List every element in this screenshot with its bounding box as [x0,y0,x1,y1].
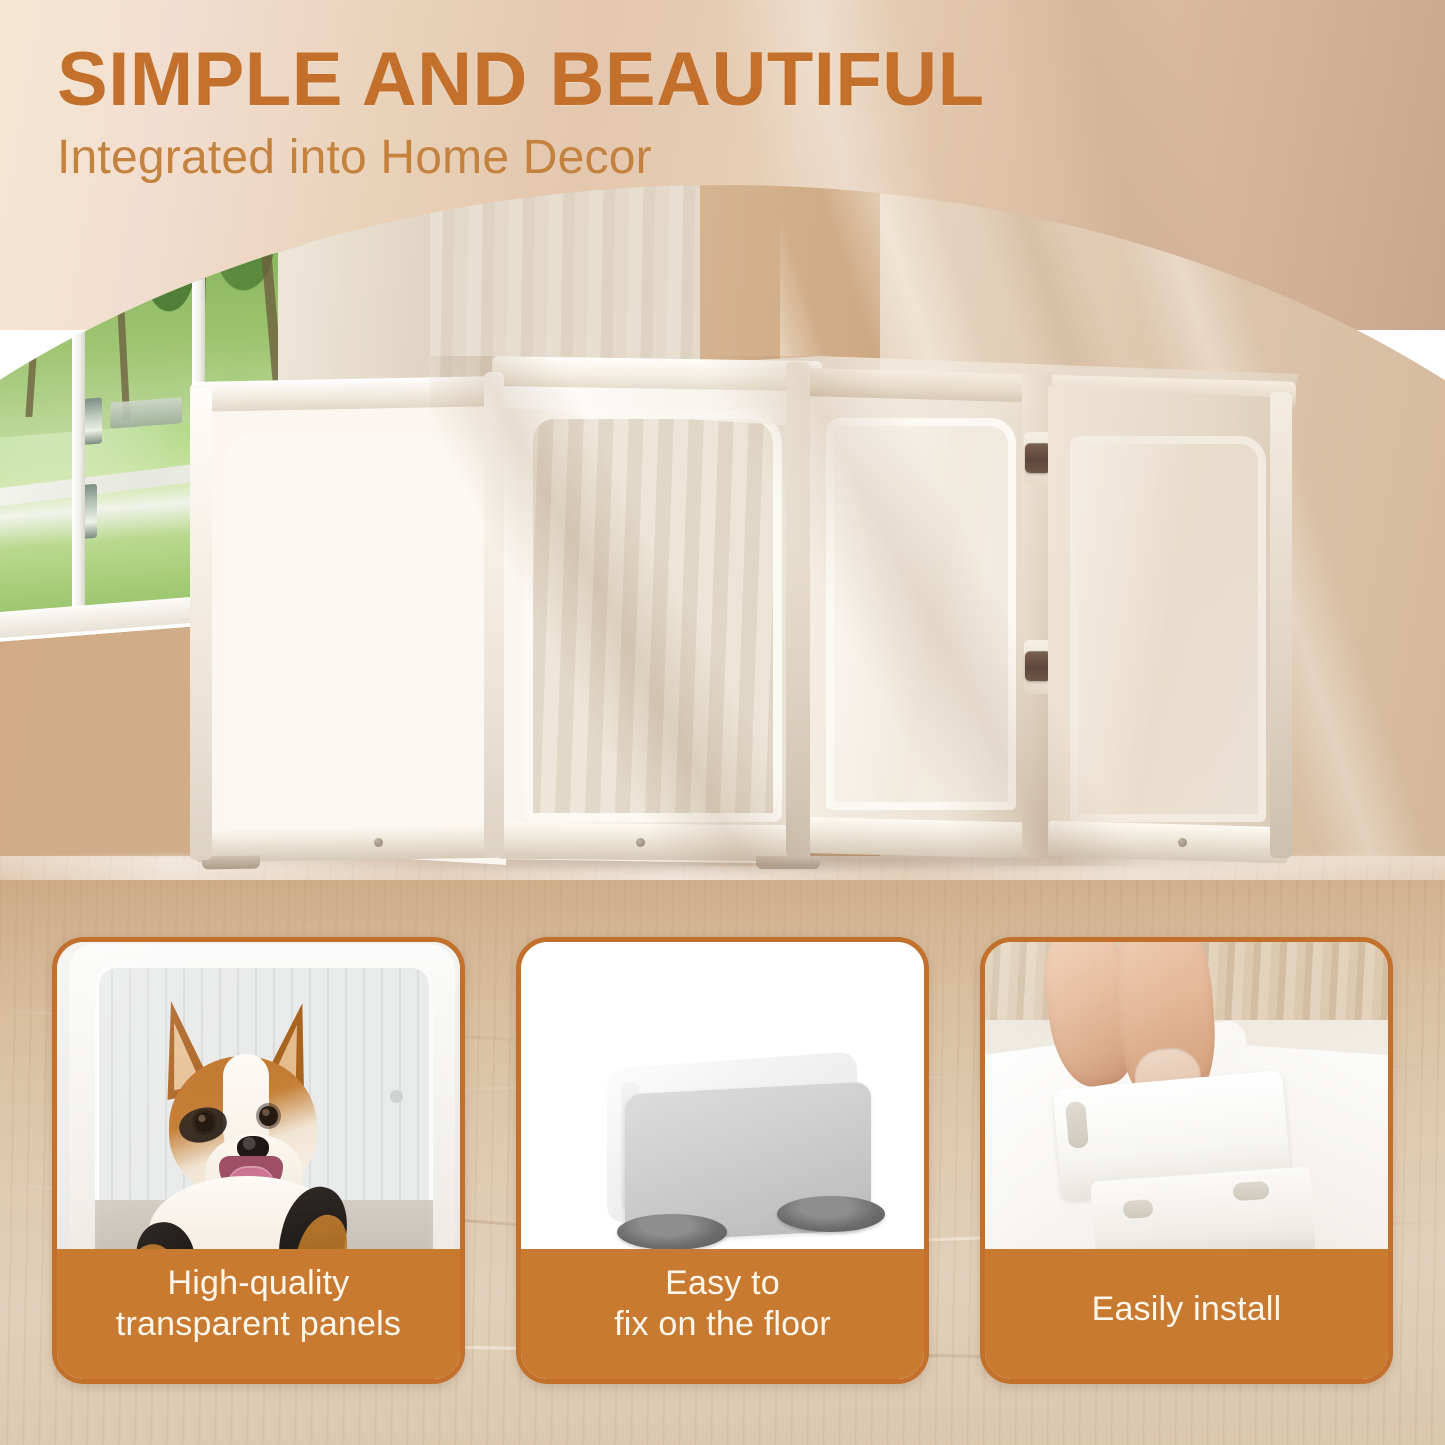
page-title: SIMPLE AND BEAUTIFUL [57,42,985,118]
suction-pad-right [777,1196,885,1232]
suction-pad-left [617,1214,727,1250]
card-2-caption: Easy to fix on the floor [521,1249,924,1379]
card-1-caption: High-quality transparent panels [57,1249,460,1379]
card-3-caption-line1: Easily install [993,1289,1380,1330]
clip-notch-b [1122,1199,1153,1219]
corgi-dog [131,1000,386,1278]
dog-eye-right [259,1106,278,1126]
page-subtitle: Integrated into Home Decor [57,134,985,182]
product-infographic: SIMPLE AND BEAUTIFUL Integrated into Hom… [0,0,1445,1445]
card-1-caption-line1: High-quality [65,1263,452,1304]
feature-card-transparent-panels[interactable]: High-quality transparent panels [52,937,465,1384]
feature-card-easily-install[interactable]: Easily install [980,937,1393,1384]
panel-knob [390,1090,403,1103]
clip-notch-c [1233,1181,1270,1201]
card-2-caption-line2: fix on the floor [529,1304,916,1345]
card-1-caption-line2: transparent panels [65,1304,452,1345]
clip-notch-a [1065,1101,1089,1149]
dog-eye-left [195,1112,214,1132]
header-block: SIMPLE AND BEAUTIFUL Integrated into Hom… [57,42,985,182]
feature-card-row: High-quality transparent panels Easy to … [0,0,1445,1445]
feature-card-fix-on-floor[interactable]: Easy to fix on the floor [516,937,929,1384]
card-2-caption-line1: Easy to [529,1263,916,1304]
card-3-caption: Easily install [985,1249,1388,1379]
